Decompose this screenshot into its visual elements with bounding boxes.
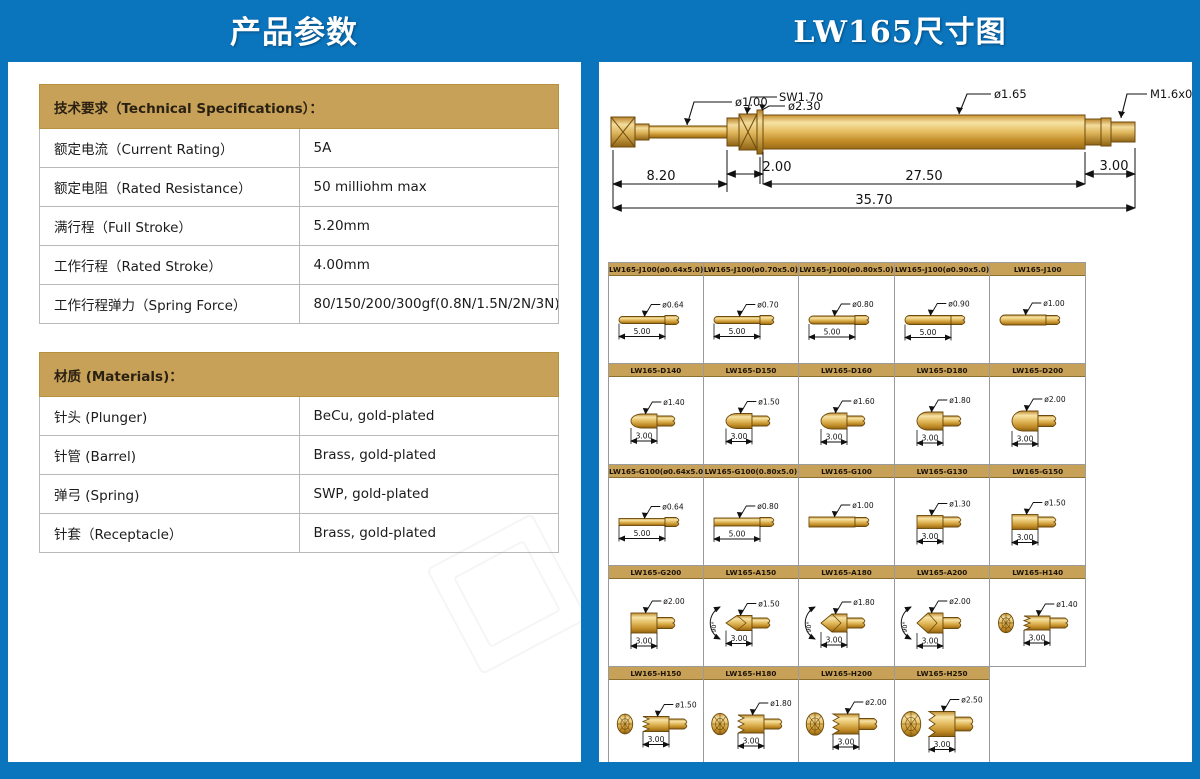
- variant-cell-lw165-j100-0-64x5-0[interactable]: LW165-J100(ø0.64x5.0)ø0.645.00: [608, 262, 704, 364]
- variant-diameter-label: ø1.80: [770, 699, 792, 708]
- variant-diameter-label: ø1.00: [852, 501, 874, 510]
- variant-label: LW165-H150: [609, 667, 703, 680]
- variant-diameter-label: ø2.50: [961, 696, 983, 705]
- dim-label-35-70: 35.70: [855, 193, 892, 208]
- dimension-drawing-panel: ø1.00 SW1.70 ø2.30 ø1.65 M1.6x0.35: [599, 62, 1192, 762]
- callout-plunger-dia: ø1.00: [735, 95, 768, 109]
- variant-drawing: ø0.805.00: [704, 478, 799, 565]
- variant-drawing: ø1.503.00: [990, 478, 1085, 565]
- variant-drawing: ø1.603.00: [799, 377, 894, 464]
- variant-drawing: ø2.003.00: [609, 579, 703, 666]
- variant-length-label: 3.00: [648, 735, 665, 744]
- variant-diameter-label: ø1.80: [853, 598, 875, 607]
- variant-diameter-label: ø2.00: [1045, 395, 1067, 404]
- variant-diameter-label: ø2.00: [865, 698, 887, 707]
- variant-cell-lw165-h180[interactable]: LW165-H180ø1.803.00: [704, 667, 800, 762]
- main-assembly-drawing: ø1.00 SW1.70 ø2.30 ø1.65 M1.6x0.35: [599, 62, 1192, 258]
- variant-label: LW165-D150: [704, 364, 799, 377]
- variant-grid-row: LW165-G200ø2.003.00LW165-A15090°ø1.503.0…: [608, 566, 1086, 667]
- variant-label: LW165-J100(ø0.70x5.0): [704, 263, 799, 276]
- variant-label: LW165-G130: [895, 465, 990, 478]
- variant-drawing: ø0.705.00: [704, 276, 799, 363]
- variant-diameter-label: ø1.40: [663, 398, 685, 407]
- variant-length-label: 3.00: [921, 637, 938, 646]
- tech-spec-key: 工作行程弹力（Spring Force）: [40, 285, 300, 324]
- svg-text:90°: 90°: [710, 621, 718, 633]
- variant-length-label: 3.00: [1017, 533, 1034, 542]
- variant-drawing: ø2.003.00: [990, 377, 1085, 464]
- variant-grid-row: LW165-G100(ø0.64x5.0)ø0.645.00LW165-G100…: [608, 465, 1086, 566]
- variant-length-label: 3.00: [921, 532, 938, 541]
- variant-cell-lw165-d140[interactable]: LW165-D140ø1.403.00: [608, 364, 704, 465]
- materials-table: 材质 (Materials)： 针头 (Plunger) BeCu, gold-…: [39, 352, 559, 553]
- table-row: 工作行程（Rated Stroke） 4.00mm: [40, 246, 559, 285]
- variant-label: LW165-G200: [609, 566, 703, 579]
- tech-spec-key: 满行程（Full Stroke）: [40, 207, 300, 246]
- variant-length-label: 5.00: [634, 529, 651, 538]
- variant-drawing: ø1.503.00: [704, 377, 799, 464]
- variant-label: LW165-A180: [799, 566, 894, 579]
- tech-spec-key: 额定电阻（Rated Resistance）: [40, 168, 300, 207]
- dim-label-3-00: 3.00: [1100, 159, 1129, 174]
- variant-cell-empty: [990, 667, 1086, 762]
- material-value: Brass, gold-plated: [299, 436, 559, 475]
- variant-cell-lw165-d150[interactable]: LW165-D150ø1.503.00: [704, 364, 800, 465]
- variant-label: LW165-D180: [895, 364, 990, 377]
- variant-drawing: 90°ø1.803.00: [799, 579, 894, 666]
- variant-label: LW165-H140: [990, 566, 1085, 579]
- material-key: 针管 (Barrel): [40, 436, 300, 475]
- variant-drawing: ø1.803.00: [704, 680, 799, 762]
- variant-drawing: ø0.645.00: [609, 276, 703, 363]
- variant-drawing: ø1.303.00: [895, 478, 990, 565]
- material-value: BeCu, gold-plated: [299, 397, 559, 436]
- variant-length-label: 5.00: [634, 327, 651, 336]
- variant-drawing: ø0.805.00: [799, 276, 894, 363]
- variant-length-label: 3.00: [933, 740, 950, 749]
- variant-diameter-label: ø1.80: [949, 396, 971, 405]
- variant-cell-lw165-g130[interactable]: LW165-G130ø1.303.00: [895, 465, 991, 566]
- variant-diameter-label: ø1.00: [1044, 299, 1066, 308]
- variant-drawing: ø1.00: [990, 276, 1085, 363]
- variant-length-label: 3.00: [826, 636, 843, 645]
- materials-header-row: 材质 (Materials)：: [40, 353, 559, 397]
- variant-label: LW165-H180: [704, 667, 799, 680]
- tech-spec-title: 技术要求（Technical Specifications）：: [40, 85, 559, 129]
- variant-cell-lw165-d200[interactable]: LW165-D200ø2.003.00: [990, 364, 1086, 465]
- variant-grid: LW165-J100(ø0.64x5.0)ø0.645.00LW165-J100…: [608, 262, 1086, 762]
- variant-diameter-label: ø1.50: [675, 701, 697, 710]
- variant-diameter-label: ø0.64: [662, 301, 684, 310]
- svg-text:90°: 90°: [901, 621, 909, 633]
- table-row: 弹弓 (Spring) SWP, gold-plated: [40, 475, 559, 514]
- variant-diameter-label: ø0.80: [757, 502, 779, 511]
- variant-length-label: 3.00: [1017, 435, 1034, 444]
- tech-spec-value: 4.00mm: [299, 246, 559, 285]
- variant-cell-lw165-j100[interactable]: LW165-J100ø1.00: [990, 262, 1086, 364]
- variant-label: LW165-J100: [990, 263, 1085, 276]
- variant-length-label: 5.00: [728, 530, 745, 539]
- variant-drawing: ø1.803.00: [895, 377, 990, 464]
- callout-barrel-dia: ø1.65: [994, 87, 1027, 101]
- variant-length-label: 3.00: [730, 432, 747, 441]
- variant-diameter-label: ø0.64: [662, 503, 684, 512]
- technical-specifications-table: 技术要求（Technical Specifications）： 额定电流（Cur…: [39, 84, 559, 324]
- svg-text:90°: 90°: [805, 621, 813, 633]
- variant-label: LW165-J100(ø0.90x5.0): [895, 263, 990, 276]
- material-key: 针头 (Plunger): [40, 397, 300, 436]
- variant-drawing: ø2.503.00: [895, 680, 990, 762]
- variant-grid-row: LW165-J100(ø0.64x5.0)ø0.645.00LW165-J100…: [608, 262, 1086, 364]
- variant-drawing: 90°ø2.003.00: [895, 579, 990, 666]
- panel-divider: [584, 58, 596, 770]
- variant-length-label: 5.00: [919, 328, 936, 337]
- variant-cell-lw165-g200[interactable]: LW165-G200ø2.003.00: [608, 566, 704, 667]
- variant-diameter-label: ø1.60: [853, 397, 875, 406]
- variant-cell-lw165-h200[interactable]: LW165-H200ø2.003.00: [799, 667, 895, 762]
- variant-cell-lw165-g100-0-64x5-0[interactable]: LW165-G100(ø0.64x5.0)ø0.645.00: [608, 465, 704, 566]
- variant-diameter-label: ø0.80: [852, 300, 874, 309]
- variant-label: LW165-G100(0.80x5.0): [704, 465, 799, 478]
- table-row: 针头 (Plunger) BeCu, gold-plated: [40, 397, 559, 436]
- table-row: 额定电阻（Rated Resistance） 50 milliohm max: [40, 168, 559, 207]
- variant-drawing: ø1.403.00: [990, 579, 1085, 666]
- variant-diameter-label: ø0.70: [757, 301, 779, 310]
- dim-label-8-20: 8.20: [647, 169, 676, 184]
- variant-label: LW165-G150: [990, 465, 1085, 478]
- variant-cell-lw165-a180[interactable]: LW165-A18090°ø1.803.00: [799, 566, 895, 667]
- variant-diameter-label: ø1.40: [1057, 600, 1079, 609]
- variant-label: LW165-H200: [799, 667, 894, 680]
- variant-drawing: ø1.503.00: [609, 680, 703, 762]
- variant-label: LW165-D160: [799, 364, 894, 377]
- variant-diameter-label: ø1.50: [758, 600, 780, 609]
- variant-label: LW165-G100: [799, 465, 894, 478]
- tech-spec-key: 额定电流（Current Rating）: [40, 129, 300, 168]
- variant-cell-lw165-h140[interactable]: LW165-H140ø1.403.00: [990, 566, 1086, 667]
- variant-diameter-label: ø1.30: [949, 500, 971, 509]
- bottom-frame-bar: [0, 762, 1200, 779]
- tech-spec-value: 5A: [299, 129, 559, 168]
- variant-label: LW165-H250: [895, 667, 990, 680]
- callout-thread: M1.6x0.35: [1150, 87, 1192, 101]
- variant-diameter-label: ø1.50: [758, 398, 780, 407]
- variant-cell-lw165-h250[interactable]: LW165-H250ø2.503.00: [895, 667, 991, 762]
- variant-drawing: 90°ø1.503.00: [704, 579, 799, 666]
- tech-spec-value: 50 milliohm max: [299, 168, 559, 207]
- tech-spec-key: 工作行程（Rated Stroke）: [40, 246, 300, 285]
- variant-length-label: 3.00: [636, 432, 653, 441]
- materials-title: 材质 (Materials)：: [40, 353, 559, 397]
- dim-label-27-50: 27.50: [905, 169, 942, 184]
- variant-drawing: ø1.403.00: [609, 377, 703, 464]
- variant-cell-lw165-g100-0-80x5-0[interactable]: LW165-G100(0.80x5.0)ø0.805.00: [704, 465, 800, 566]
- variant-cell-lw165-g150[interactable]: LW165-G150ø1.503.00: [990, 465, 1086, 566]
- variant-length-label: 3.00: [1029, 634, 1046, 643]
- variant-label: LW165-D140: [609, 364, 703, 377]
- variant-length-label: 5.00: [824, 328, 841, 337]
- right-panel-title: LW165尺寸图: [793, 7, 1006, 51]
- variant-diameter-label: ø2.00: [949, 597, 971, 606]
- variant-cell-lw165-j100-0-70x5-0[interactable]: LW165-J100(ø0.70x5.0)ø0.705.00: [704, 262, 800, 364]
- product-parameters-panel: 技术要求（Technical Specifications）： 额定电流（Cur…: [8, 62, 581, 762]
- variant-cell-lw165-h150[interactable]: LW165-H150ø1.503.00: [608, 667, 704, 762]
- dim-label-2-00: 2.00: [763, 160, 792, 175]
- table-row: 满行程（Full Stroke） 5.20mm: [40, 207, 559, 246]
- variant-diameter-label: ø0.90: [948, 300, 970, 309]
- variant-diameter-label: ø1.50: [1045, 499, 1067, 508]
- material-key: 弹弓 (Spring): [40, 475, 300, 514]
- variant-length-label: 3.00: [826, 433, 843, 442]
- variant-label: LW165-J100(ø0.64x5.0): [609, 263, 703, 276]
- variant-grid-row: LW165-H150ø1.503.00LW165-H180ø1.803.00LW…: [608, 667, 1086, 762]
- variant-cell-lw165-d180[interactable]: LW165-D180ø1.803.00: [895, 364, 991, 465]
- variant-cell-lw165-a200[interactable]: LW165-A20090°ø2.003.00: [895, 566, 991, 667]
- variant-length-label: 5.00: [728, 327, 745, 336]
- variant-cell-lw165-j100-0-80x5-0[interactable]: LW165-J100(ø0.80x5.0)ø0.805.00: [799, 262, 895, 364]
- table-row: 工作行程弹力（Spring Force） 80/150/200/300gf(0.…: [40, 285, 559, 324]
- variant-cell-lw165-g100[interactable]: LW165-G100ø1.00: [799, 465, 895, 566]
- tech-spec-value: 80/150/200/300gf(0.8N/1.5N/2N/3N): [299, 285, 559, 324]
- variant-cell-lw165-a150[interactable]: LW165-A15090°ø1.503.00: [704, 566, 800, 667]
- variant-drawing: ø2.003.00: [799, 680, 894, 762]
- left-panel-header: 产品参数: [0, 0, 588, 58]
- right-panel-header: LW165尺寸图: [600, 0, 1200, 58]
- variant-drawing: ø0.645.00: [609, 478, 703, 565]
- variant-drawing: ø1.00: [799, 478, 894, 565]
- variant-grid-row: LW165-D140ø1.403.00LW165-D150ø1.503.00LW…: [608, 364, 1086, 465]
- variant-label: LW165-D200: [990, 364, 1085, 377]
- variant-cell-lw165-d160[interactable]: LW165-D160ø1.603.00: [799, 364, 895, 465]
- tech-spec-value: 5.20mm: [299, 207, 559, 246]
- variant-label: LW165-J100(ø0.80x5.0): [799, 263, 894, 276]
- table-row: 额定电流（Current Rating） 5A: [40, 129, 559, 168]
- table-row: 针管 (Barrel) Brass, gold-plated: [40, 436, 559, 475]
- variant-length-label: 3.00: [838, 738, 855, 747]
- datasheet-page: 产品参数 LW165尺寸图 技术要求（Technical Specificati…: [0, 0, 1200, 779]
- variant-label: LW165-A150: [704, 566, 799, 579]
- variant-diameter-label: ø2.00: [663, 597, 685, 606]
- variant-length-label: 3.00: [921, 434, 938, 443]
- material-value: SWP, gold-plated: [299, 475, 559, 514]
- variant-drawing: ø0.905.00: [895, 276, 990, 363]
- variant-length-label: 3.00: [636, 637, 653, 646]
- tech-spec-header-row: 技术要求（Technical Specifications）：: [40, 85, 559, 129]
- variant-length-label: 3.00: [730, 634, 747, 643]
- variant-length-label: 3.00: [742, 737, 759, 746]
- callout-flange-dia: ø2.30: [788, 99, 821, 113]
- variant-label: LW165-A200: [895, 566, 990, 579]
- left-panel-title: 产品参数: [230, 7, 358, 52]
- variant-cell-lw165-j100-0-90x5-0[interactable]: LW165-J100(ø0.90x5.0)ø0.905.00: [895, 262, 991, 364]
- material-key: 针套（Receptacle）: [40, 514, 300, 553]
- variant-label: LW165-G100(ø0.64x5.0): [609, 465, 703, 478]
